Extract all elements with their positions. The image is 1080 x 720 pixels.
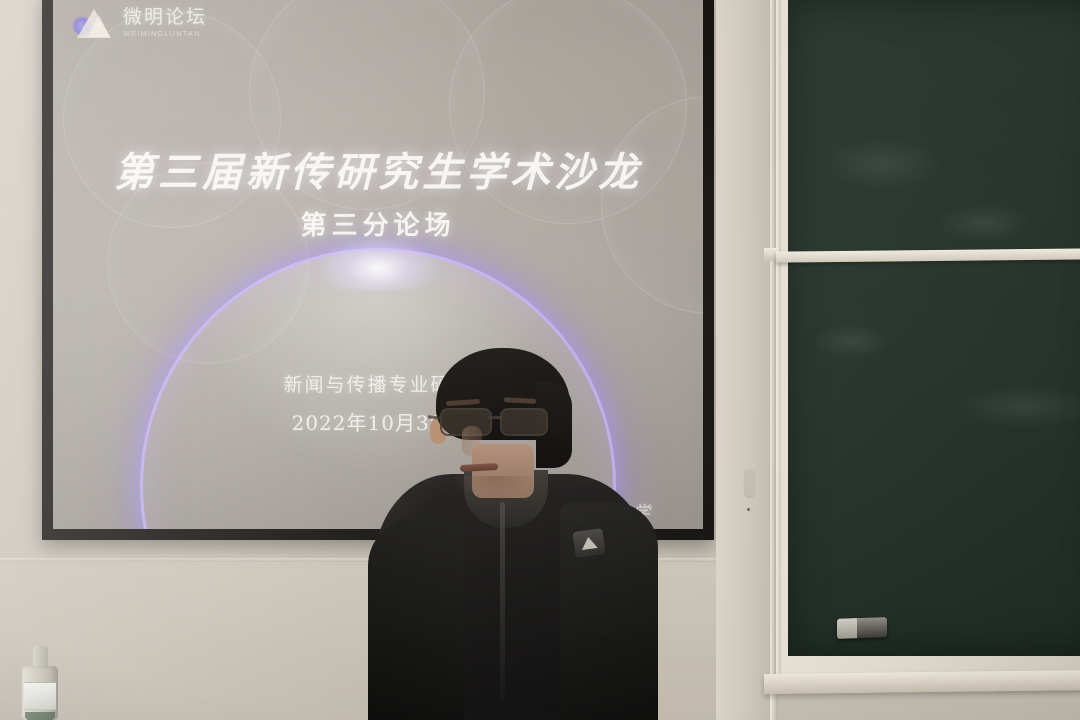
classroom-photo: 微明论坛 WEIMINGLUNTAN 第三届新传研究生学术沙龙 第三分论场 新闻… [0,0,1080,720]
blackboard-frame [776,0,1080,690]
bottle-label [24,682,56,710]
blackboard-surface [788,0,1080,656]
bottle-cap [33,646,48,668]
bottle-base-tint [25,712,55,720]
mountain-peak-icon [71,6,115,40]
presenter [368,352,658,720]
blackboard-chalk-ledge [764,670,1080,694]
logo-chinese-name: 微明论坛 [123,8,207,27]
bottle-body [22,666,58,720]
slide-subtitle: 第三分论场 [53,205,703,242]
eraser-felt-icon [837,618,857,639]
sleeve-patch [572,528,605,558]
blackboard-left-rail [776,0,781,690]
wall-screw-dot [747,508,750,511]
wall-fixture [745,470,754,496]
water-bottle [22,648,58,720]
peak-shape-secondary-icon [88,15,110,37]
slide-logo: 微明论坛 WEIMINGLUNTAN [71,6,207,40]
glasses-lens-right [500,408,548,436]
logo-text-block: 微明论坛 WEIMINGLUNTAN [123,8,207,38]
wall-pillar [716,0,778,720]
logo-pinyin: WEIMINGLUNTAN [123,30,207,38]
slide-title: 第三届新传研究生学术沙龙 [53,140,703,198]
arc-highlight-icon [318,236,438,290]
presenter-nose [462,426,482,456]
presenter-chin-shadow [450,476,540,498]
triangle-logo-icon [580,536,598,550]
chalk-smudges [788,0,1080,656]
jacket-zipper [500,502,505,702]
eyeglasses-icon [440,408,560,432]
chalk-eraser [837,617,887,639]
presenter-left-shoulder [368,518,464,720]
